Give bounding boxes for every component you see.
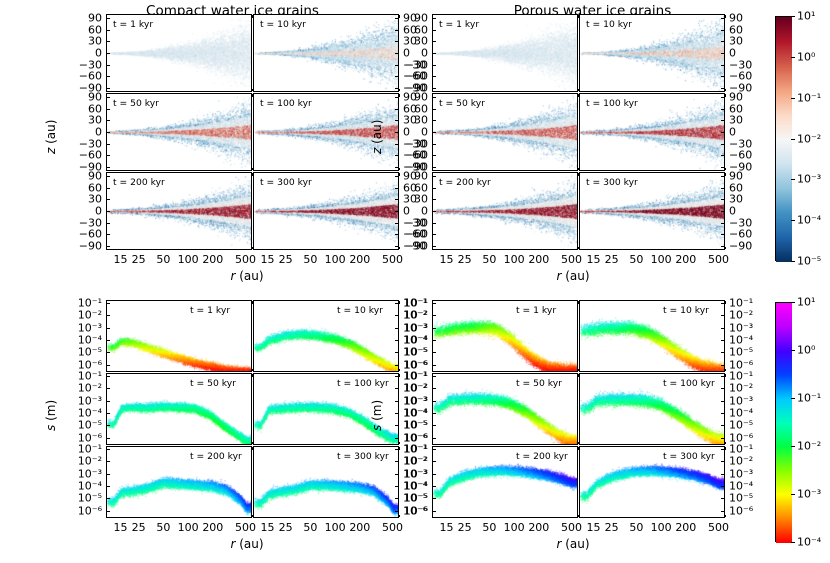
y-tick-label: 10⁻⁴	[390, 480, 428, 493]
time-label: t = 200 kyr	[190, 451, 242, 462]
y-major-tick	[106, 315, 110, 316]
y-major-tick	[106, 53, 110, 54]
y-major-tick	[721, 41, 725, 42]
y-major-tick	[432, 30, 436, 31]
y-tick-label: 10⁻³	[390, 467, 428, 480]
y-major-tick	[721, 315, 725, 316]
x-tick-label: 50	[303, 521, 317, 534]
time-label: t = 100 kyr	[663, 378, 715, 389]
x-minor-tick	[725, 15, 726, 18]
y-major-tick	[106, 246, 110, 247]
x-axis-label: r (au)	[231, 269, 264, 283]
y-tick-label: 10⁻¹	[390, 443, 428, 456]
y-major-tick	[432, 328, 436, 329]
time-label: t = 100 kyr	[337, 378, 389, 389]
figure-root: Compact water ice grains Porous water ic…	[0, 0, 830, 563]
colorbar-gradient	[776, 303, 792, 543]
y-major-tick	[721, 120, 725, 121]
y-major-tick	[106, 132, 110, 133]
x-tick-label: 50	[629, 521, 643, 534]
time-label: t = 300 kyr	[663, 451, 715, 462]
y-major-tick	[432, 511, 436, 512]
colorbar-tick	[791, 261, 795, 262]
x-tick-label: 100	[325, 253, 346, 266]
time-label: t = 50 kyr	[439, 98, 485, 109]
x-minor-tick	[725, 89, 726, 92]
time-label: t = 10 kyr	[663, 305, 709, 316]
time-label: t = 100 kyr	[586, 98, 638, 109]
y-major-tick	[432, 144, 436, 145]
x-tick-label: 200	[675, 253, 696, 266]
x-tick-label: 100	[651, 253, 672, 266]
y-major-tick	[721, 65, 725, 66]
y-major-tick	[721, 109, 725, 110]
y-major-tick	[106, 167, 110, 168]
colorbar-tick	[791, 16, 795, 17]
y-major-tick	[432, 132, 436, 133]
y-major-tick	[721, 376, 725, 377]
y-major-tick	[721, 246, 725, 247]
y-tick-label: 10⁻¹	[729, 443, 767, 456]
y-tick-label: 10⁻⁴	[729, 407, 767, 420]
y-major-tick	[432, 340, 436, 341]
y-tick-label: 10⁻¹	[390, 297, 428, 310]
y-major-tick	[106, 438, 110, 439]
x-tick-label: 50	[482, 253, 496, 266]
x-tick-label: 50	[303, 253, 317, 266]
x-minor-tick	[725, 374, 726, 377]
x-tick-label: 100	[325, 521, 346, 534]
y-major-tick	[721, 97, 725, 98]
colorbar-tick-label: 10¹	[797, 296, 815, 309]
x-tick-label: 200	[202, 521, 223, 534]
y-major-tick	[432, 461, 436, 462]
y-major-tick	[106, 449, 110, 450]
y-tick-label: 10⁻⁴	[64, 334, 102, 347]
colorbar-top	[775, 16, 791, 261]
y-major-tick	[106, 498, 110, 499]
y-axis-label: z (au)	[44, 120, 58, 154]
y-major-tick	[432, 413, 436, 414]
y-tick-label: 10⁻¹	[64, 443, 102, 456]
time-label: t = 100 kyr	[260, 98, 312, 109]
y-major-tick	[106, 120, 110, 121]
y-major-tick	[106, 461, 110, 462]
y-major-tick	[106, 88, 110, 89]
y-tick-label: −90	[390, 240, 428, 253]
y-tick-label: −90	[64, 240, 102, 253]
y-major-tick	[106, 223, 110, 224]
panel-group-compact-s: t = 1 kyrt = 10 kyr10⁻¹10⁻¹10⁻²10⁻²10⁻³1…	[106, 300, 399, 518]
time-label: t = 50 kyr	[516, 378, 562, 389]
y-tick-label: 10⁻²	[729, 455, 767, 468]
y-major-tick	[432, 223, 436, 224]
y-tick-label: 10⁻⁵	[390, 419, 428, 432]
x-axis-label: r (au)	[231, 537, 264, 551]
time-label: t = 10 kyr	[260, 19, 306, 30]
x-tick-label: 200	[528, 521, 549, 534]
y-major-tick	[106, 340, 110, 341]
y-tick-label: 10⁻²	[64, 309, 102, 322]
y-major-tick	[432, 109, 436, 110]
y-major-tick	[106, 155, 110, 156]
y-tick-label: 10⁻³	[64, 467, 102, 480]
x-tick-label: 100	[504, 521, 525, 534]
y-tick-label: 10⁻⁵	[64, 346, 102, 359]
y-major-tick	[106, 97, 110, 98]
x-axis-label: r (au)	[557, 537, 590, 551]
x-tick-label: 25	[279, 521, 293, 534]
y-major-tick	[106, 109, 110, 110]
y-tick-label: 10⁻²	[729, 382, 767, 395]
x-tick-label: 50	[482, 521, 496, 534]
y-major-tick	[106, 328, 110, 329]
y-major-tick	[106, 234, 110, 235]
colorbar-tick	[791, 302, 795, 303]
x-tick-label: 25	[605, 521, 619, 534]
y-major-tick	[432, 352, 436, 353]
y-major-tick	[721, 88, 725, 89]
colorbar-tick-label: 10⁻⁴	[797, 536, 821, 549]
y-major-tick	[432, 53, 436, 54]
colorbar-tick	[791, 220, 795, 221]
x-tick-label: 500	[708, 253, 729, 266]
y-major-tick	[106, 176, 110, 177]
y-major-tick	[721, 486, 725, 487]
time-label: t = 200 kyr	[113, 177, 165, 188]
x-tick-label: 15	[586, 253, 600, 266]
y-major-tick	[106, 376, 110, 377]
y-major-tick	[432, 246, 436, 247]
y-axis-label: s (m)	[370, 400, 384, 431]
y-tick-label: 10⁻¹	[390, 370, 428, 383]
x-tick-label: 15	[439, 521, 453, 534]
x-tick-label: 200	[349, 253, 370, 266]
y-major-tick	[432, 388, 436, 389]
colorbar-tick	[791, 98, 795, 99]
x-tick-label: 200	[675, 521, 696, 534]
x-tick-label: 25	[132, 253, 146, 266]
colorbar-tick	[791, 542, 795, 543]
x-tick-label: 100	[651, 521, 672, 534]
x-axis-label: r (au)	[557, 269, 590, 283]
y-major-tick	[432, 188, 436, 189]
y-tick-label: 10⁻³	[64, 321, 102, 334]
y-tick-label: 10⁻⁵	[729, 346, 767, 359]
colorbar-tick	[791, 179, 795, 180]
y-tick-label: 10⁻²	[390, 382, 428, 395]
x-tick-label: 500	[708, 521, 729, 534]
y-tick-label: 10⁻⁶	[390, 504, 428, 517]
y-tick-label: 10⁻²	[64, 455, 102, 468]
y-major-tick	[432, 315, 436, 316]
y-major-tick	[106, 188, 110, 189]
y-tick-label: −90	[729, 240, 767, 253]
y-major-tick	[432, 303, 436, 304]
y-major-tick	[106, 18, 110, 19]
y-major-tick	[721, 352, 725, 353]
x-tick-label: 100	[178, 521, 199, 534]
time-label: t = 300 kyr	[586, 177, 638, 188]
y-major-tick	[106, 303, 110, 304]
y-major-tick	[721, 176, 725, 177]
y-major-tick	[721, 303, 725, 304]
colorbar-tick-label: 10⁻²	[797, 440, 821, 453]
y-major-tick	[432, 486, 436, 487]
x-tick-label: 50	[156, 253, 170, 266]
x-tick-label: 100	[178, 253, 199, 266]
y-major-tick	[432, 498, 436, 499]
y-major-tick	[721, 144, 725, 145]
y-tick-label: 10⁻⁵	[729, 492, 767, 505]
x-tick-label: 15	[260, 253, 274, 266]
y-major-tick	[106, 486, 110, 487]
x-tick-label: 15	[113, 253, 127, 266]
x-tick-label: 25	[458, 253, 472, 266]
y-major-tick	[721, 167, 725, 168]
time-label: t = 300 kyr	[337, 451, 389, 462]
y-major-tick	[721, 449, 725, 450]
colorbar-tick	[791, 446, 795, 447]
x-minor-tick	[725, 369, 726, 372]
panel-group-compact-z: t = 1 kyrt = 10 kyr90906060303000−30−30−…	[106, 14, 399, 250]
y-tick-label: 10⁻⁴	[64, 480, 102, 493]
y-major-tick	[106, 199, 110, 200]
y-tick-label: 10⁻⁵	[390, 346, 428, 359]
y-major-tick	[721, 425, 725, 426]
x-minor-tick	[725, 247, 726, 250]
y-major-tick	[432, 438, 436, 439]
x-tick-label: 15	[260, 521, 274, 534]
y-major-tick	[721, 511, 725, 512]
y-axis-label: z (au)	[370, 120, 384, 154]
y-major-tick	[106, 41, 110, 42]
colorbar-tick-label: 10⁻⁴	[797, 214, 821, 227]
y-major-tick	[106, 425, 110, 426]
x-minor-tick	[725, 94, 726, 97]
y-major-tick	[721, 30, 725, 31]
y-major-tick	[432, 120, 436, 121]
x-minor-tick	[725, 301, 726, 304]
x-tick-label: 15	[113, 521, 127, 534]
x-tick-label: 500	[561, 521, 582, 534]
y-tick-label: 10⁻¹	[729, 297, 767, 310]
colorbar-tick-label: 10⁻³	[797, 488, 821, 501]
x-tick-label: 500	[561, 253, 582, 266]
y-tick-label: 10⁻²	[64, 382, 102, 395]
colorbar-tick-label: 10⁰	[797, 344, 815, 357]
y-tick-label: 10⁻⁵	[729, 419, 767, 432]
time-label: t = 10 kyr	[337, 305, 383, 316]
colorbar-tick	[791, 350, 795, 351]
y-major-tick	[432, 365, 436, 366]
y-tick-label: 10⁻²	[390, 309, 428, 322]
y-major-tick	[721, 340, 725, 341]
y-major-tick	[432, 18, 436, 19]
y-major-tick	[721, 211, 725, 212]
x-tick-label: 25	[605, 253, 619, 266]
x-tick-label: 50	[156, 521, 170, 534]
y-major-tick	[432, 167, 436, 168]
x-tick-label: 25	[458, 521, 472, 534]
y-tick-label: 10⁻⁵	[390, 492, 428, 505]
y-major-tick	[432, 401, 436, 402]
y-major-tick	[721, 498, 725, 499]
x-minor-tick	[725, 515, 726, 518]
y-major-tick	[432, 41, 436, 42]
y-major-tick	[106, 474, 110, 475]
colorbar-tick-label: 10⁻⁵	[797, 255, 821, 268]
y-major-tick	[432, 97, 436, 98]
x-minor-tick	[725, 173, 726, 176]
y-tick-label: 10⁻⁴	[390, 334, 428, 347]
x-tick-label: 500	[235, 253, 256, 266]
y-major-tick	[432, 474, 436, 475]
y-tick-label: 10⁻⁴	[729, 480, 767, 493]
x-tick-label: 25	[132, 521, 146, 534]
y-tick-label: 10⁻³	[390, 394, 428, 407]
panel-group-porous-s: t = 1 kyrt = 10 kyr10⁻¹10⁻¹10⁻²10⁻²10⁻³1…	[432, 300, 725, 518]
y-major-tick	[721, 438, 725, 439]
y-major-tick	[432, 211, 436, 212]
y-major-tick	[106, 413, 110, 414]
y-major-tick	[106, 211, 110, 212]
y-major-tick	[721, 188, 725, 189]
colorbar-tick-label: 10¹	[797, 10, 815, 23]
x-minor-tick	[725, 168, 726, 171]
y-tick-label: 10⁻¹	[729, 370, 767, 383]
y-major-tick	[106, 76, 110, 77]
y-major-tick	[721, 234, 725, 235]
y-major-tick	[432, 176, 436, 177]
time-label: t = 10 kyr	[586, 19, 632, 30]
y-major-tick	[432, 88, 436, 89]
x-tick-label: 500	[235, 521, 256, 534]
colorbar-tick-label: 10⁻³	[797, 173, 821, 186]
y-major-tick	[721, 365, 725, 366]
y-axis-label: s (m)	[44, 400, 58, 431]
y-tick-label: 10⁻⁶	[729, 504, 767, 517]
y-major-tick	[106, 511, 110, 512]
y-tick-label: 10⁻¹	[64, 370, 102, 383]
y-major-tick	[721, 18, 725, 19]
colorbar-tick	[791, 494, 795, 495]
colorbar-tick-label: 10⁻¹	[797, 91, 821, 104]
y-tick-label: 10⁻²	[390, 455, 428, 468]
y-tick-label: 10⁻¹	[64, 297, 102, 310]
y-major-tick	[106, 144, 110, 145]
x-tick-label: 100	[504, 253, 525, 266]
y-tick-label: 10⁻⁶	[64, 504, 102, 517]
x-minor-tick	[725, 447, 726, 450]
x-tick-label: 15	[586, 521, 600, 534]
y-major-tick	[721, 199, 725, 200]
y-tick-label: 10⁻³	[729, 321, 767, 334]
y-major-tick	[432, 65, 436, 66]
y-tick-label: 10⁻⁴	[729, 334, 767, 347]
x-tick-label: 200	[202, 253, 223, 266]
y-major-tick	[432, 76, 436, 77]
x-tick-label: 25	[279, 253, 293, 266]
y-major-tick	[106, 401, 110, 402]
y-tick-label: 10⁻⁴	[390, 407, 428, 420]
time-label: t = 300 kyr	[260, 177, 312, 188]
y-tick-label: 10⁻⁵	[64, 419, 102, 432]
y-major-tick	[721, 388, 725, 389]
colorbar-tick	[791, 57, 795, 58]
y-major-tick	[721, 401, 725, 402]
y-major-tick	[721, 413, 725, 414]
x-tick-label: 500	[382, 253, 403, 266]
time-label: t = 50 kyr	[113, 98, 159, 109]
colorbar-gradient	[776, 17, 792, 262]
colorbar-tick-label: 10⁻¹	[797, 392, 821, 405]
y-tick-label: 10⁻³	[729, 394, 767, 407]
y-major-tick	[721, 76, 725, 77]
colorbar-tick-label: 10⁻²	[797, 132, 821, 145]
y-major-tick	[432, 425, 436, 426]
y-major-tick	[432, 199, 436, 200]
y-major-tick	[106, 30, 110, 31]
time-label: t = 1 kyr	[190, 305, 230, 316]
y-major-tick	[721, 474, 725, 475]
y-tick-label: 10⁻³	[64, 394, 102, 407]
y-major-tick	[721, 223, 725, 224]
y-major-tick	[106, 352, 110, 353]
time-label: t = 1 kyr	[439, 19, 479, 30]
y-major-tick	[106, 365, 110, 366]
y-major-tick	[106, 65, 110, 66]
time-label: t = 50 kyr	[190, 378, 236, 389]
y-tick-label: 10⁻³	[729, 467, 767, 480]
x-tick-label: 200	[349, 521, 370, 534]
x-tick-label: 50	[629, 253, 643, 266]
x-tick-label: 15	[439, 253, 453, 266]
time-label: t = 200 kyr	[439, 177, 491, 188]
time-label: t = 200 kyr	[516, 451, 568, 462]
time-label: t = 1 kyr	[113, 19, 153, 30]
y-major-tick	[721, 132, 725, 133]
x-minor-tick	[725, 442, 726, 445]
y-major-tick	[432, 449, 436, 450]
y-tick-label: 10⁻³	[390, 321, 428, 334]
y-tick-label: 10⁻²	[729, 309, 767, 322]
y-major-tick	[721, 155, 725, 156]
y-major-tick	[721, 461, 725, 462]
x-tick-label: 500	[382, 521, 403, 534]
y-tick-label: 10⁻⁴	[64, 407, 102, 420]
colorbar-tick	[791, 139, 795, 140]
time-label: t = 1 kyr	[516, 305, 556, 316]
y-major-tick	[721, 328, 725, 329]
y-major-tick	[432, 234, 436, 235]
colorbar-bottom	[775, 302, 791, 542]
y-tick-label: 10⁻⁵	[64, 492, 102, 505]
colorbar-tick-label: 10⁰	[797, 50, 815, 63]
y-major-tick	[721, 53, 725, 54]
y-major-tick	[432, 155, 436, 156]
colorbar-tick	[791, 398, 795, 399]
x-tick-label: 200	[528, 253, 549, 266]
panel-group-porous-z: t = 1 kyrt = 10 kyr90906060303000−30−30−…	[432, 14, 725, 250]
y-major-tick	[106, 388, 110, 389]
y-major-tick	[432, 376, 436, 377]
